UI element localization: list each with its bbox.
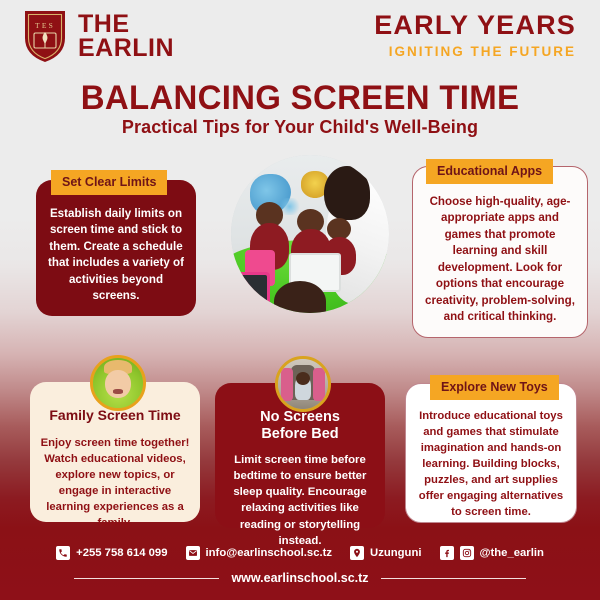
page-title: BALANCING SCREEN TIME (9, 79, 591, 118)
contact-social-handle: @the_earlin (480, 547, 544, 559)
card-family-body: Enjoy screen time together! Watch educat… (39, 435, 191, 531)
card-bed-title-line2: Before Bed (261, 426, 338, 442)
divider-left (74, 578, 219, 579)
contact-email-text: info@earlinschool.sc.tz (206, 547, 333, 559)
card-educational-apps: Choose high-quality, age-appropriate app… (412, 166, 588, 338)
brand-wordmark: THE EARLIN (78, 13, 174, 60)
poster-canvas: TES THE EARLIN EARLY YEARS IGNITING THE … (0, 0, 600, 600)
badge-explore-new-toys: Explore New Toys (430, 375, 559, 400)
email-icon (186, 546, 200, 560)
avatar-family (90, 355, 146, 411)
phone-icon (56, 546, 70, 560)
instagram-icon (460, 546, 474, 560)
shield-logo-icon: TES (22, 8, 68, 64)
card-bed-title: No Screens Before Bed (224, 409, 376, 444)
contact-email[interactable]: info@earlinschool.sc.tz (186, 546, 333, 560)
brand-line-1: THE (78, 13, 174, 36)
campaign-title: EARLY YEARS (374, 12, 576, 39)
contact-location[interactable]: Uzunguni (350, 546, 421, 560)
card-set-clear-limits: Establish daily limits on screen time an… (36, 180, 196, 316)
page-subtitle: Practical Tips for Your Child's Well-Bei… (0, 117, 600, 138)
campaign-block: EARLY YEARS IGNITING THE FUTURE (374, 12, 576, 59)
card-limits-body: Establish daily limits on screen time an… (48, 207, 184, 302)
poster-header: TES THE EARLIN EARLY YEARS IGNITING THE … (0, 0, 600, 72)
classroom-photo (231, 155, 389, 313)
contact-row: +255 758 614 099 info@earlinschool.sc.tz (0, 546, 600, 560)
badge-set-clear-limits: Set Clear Limits (51, 170, 167, 195)
campaign-tagline: IGNITING THE FUTURE (374, 44, 576, 59)
contact-location-text: Uzunguni (370, 547, 421, 559)
website-url[interactable]: www.earlinschool.sc.tz (231, 571, 368, 585)
avatar-bedtime (275, 356, 331, 412)
card-bed-body: Limit screen time before bedtime to ensu… (224, 452, 376, 549)
facebook-icon (440, 546, 454, 560)
contact-phone-text: +255 758 614 099 (76, 547, 167, 559)
divider-right (381, 578, 526, 579)
badge-educational-apps: Educational Apps (426, 159, 553, 184)
poster-footer: +255 758 614 099 info@earlinschool.sc.tz (0, 538, 600, 600)
brand-logo: TES THE EARLIN (22, 8, 174, 64)
location-pin-icon (350, 546, 364, 560)
card-explore-new-toys: Introduce educational toys and games tha… (405, 383, 577, 523)
svg-text:TES: TES (35, 21, 55, 30)
website-row: www.earlinschool.sc.tz (0, 571, 600, 585)
contact-phone[interactable]: +255 758 614 099 (56, 546, 167, 560)
brand-line-2: EARLIN (78, 37, 174, 60)
contact-social[interactable]: @the_earlin (440, 546, 544, 560)
card-apps-body: Choose high-quality, age-appropriate app… (425, 195, 575, 323)
card-toys-body: Introduce educational toys and games tha… (419, 410, 563, 518)
